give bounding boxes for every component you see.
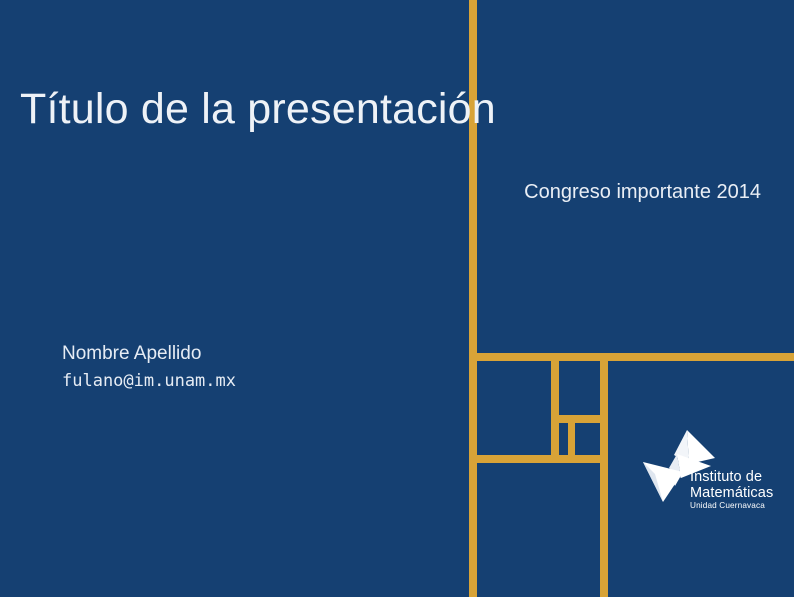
rule-micro-vertical bbox=[568, 423, 575, 455]
author-block: Nombre Apellido fulano@im.unam.mx bbox=[62, 341, 236, 393]
logo-wordmark: Instituto de Matemáticas Unidad Cuernava… bbox=[690, 470, 773, 510]
event-name: Congreso importante 2014 bbox=[524, 181, 761, 204]
title-slide: Título de la presentación Congreso impor… bbox=[0, 0, 794, 597]
rule-secondary-vertical bbox=[600, 353, 608, 597]
logo-line-unidad: Unidad Cuernavaca bbox=[690, 502, 773, 510]
rule-lower-horizontal bbox=[469, 455, 608, 463]
rule-inner-horizontal bbox=[551, 415, 608, 423]
rule-upper-horizontal bbox=[469, 353, 794, 361]
logo-line-matematicas: Matemáticas bbox=[690, 486, 773, 501]
institution-logo: Instituto de Matemáticas Unidad Cuernava… bbox=[641, 428, 771, 512]
logo-line-instituto: Instituto de bbox=[690, 470, 773, 485]
rule-inner-vertical bbox=[551, 353, 559, 463]
author-name: Nombre Apellido bbox=[62, 341, 236, 367]
presentation-title: Título de la presentación bbox=[20, 84, 450, 135]
author-email: fulano@im.unam.mx bbox=[62, 369, 236, 394]
